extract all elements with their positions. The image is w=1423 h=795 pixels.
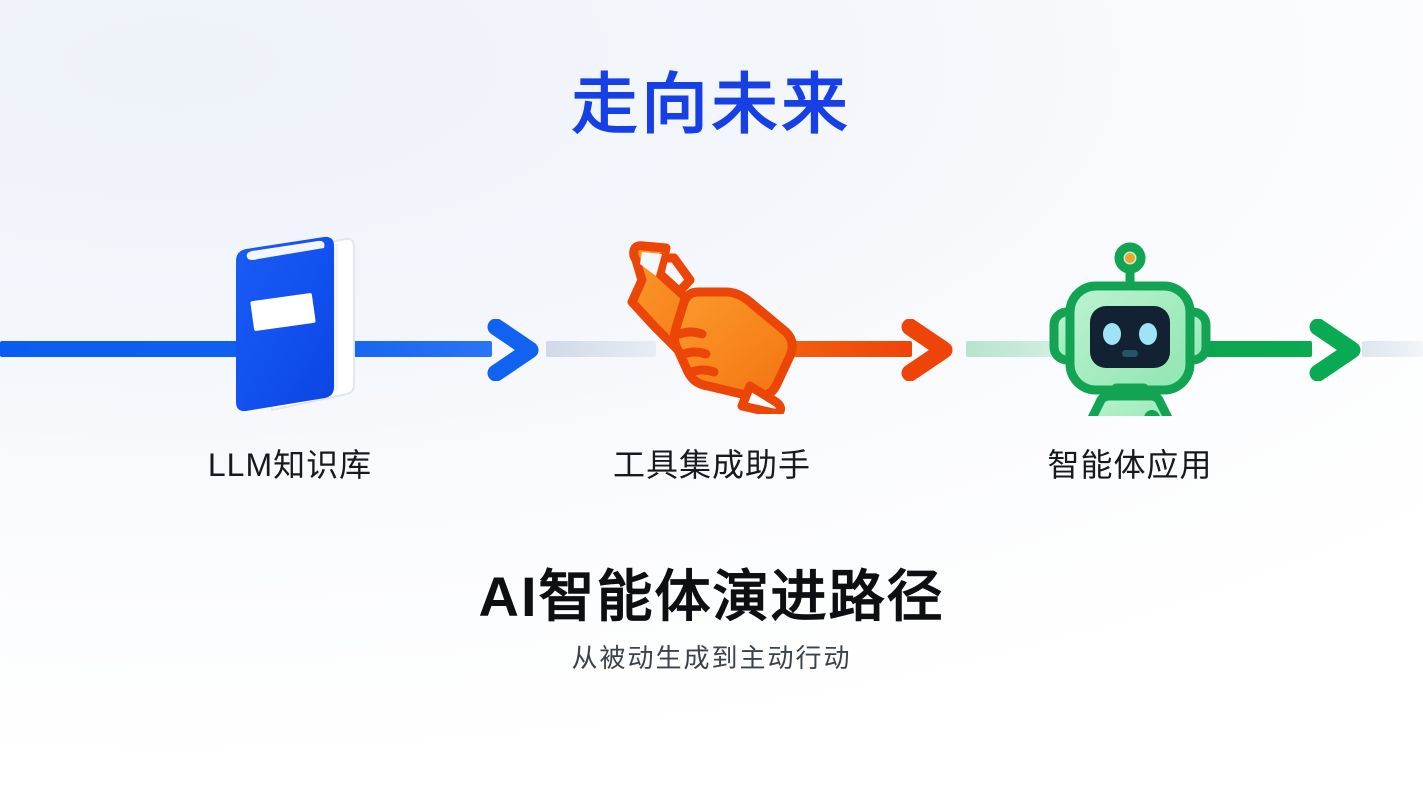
hand-holding-wrench-icon: [562, 232, 862, 418]
timeline-stage-llm[interactable]: LLM知识库: [140, 232, 440, 486]
timeline-stage-tooling[interactable]: 工具集成助手: [562, 232, 862, 486]
chevron-arrow-right-blue-icon: [486, 319, 546, 386]
arrow-right-orange-icon: [900, 319, 960, 386]
footer-subtitle: 从被动生成到主动行动: [0, 638, 1423, 675]
page-title: 走向未来: [0, 68, 1423, 141]
stage-label-llm: LLM知识库: [140, 440, 440, 486]
timeline-stage-agent[interactable]: 智能体应用: [980, 232, 1280, 486]
track-segment-green-fade: [1362, 341, 1423, 357]
robot-icon: [980, 232, 1280, 418]
book-icon: [140, 232, 440, 418]
footer-heading: AI智能体演进路径: [0, 552, 1423, 633]
stage-label-tooling: 工具集成助手: [562, 440, 862, 486]
slide-canvas: 走向未来: [0, 0, 1423, 795]
arrow-right-green-icon: [1308, 319, 1368, 386]
stage-label-agent: 智能体应用: [980, 440, 1280, 486]
